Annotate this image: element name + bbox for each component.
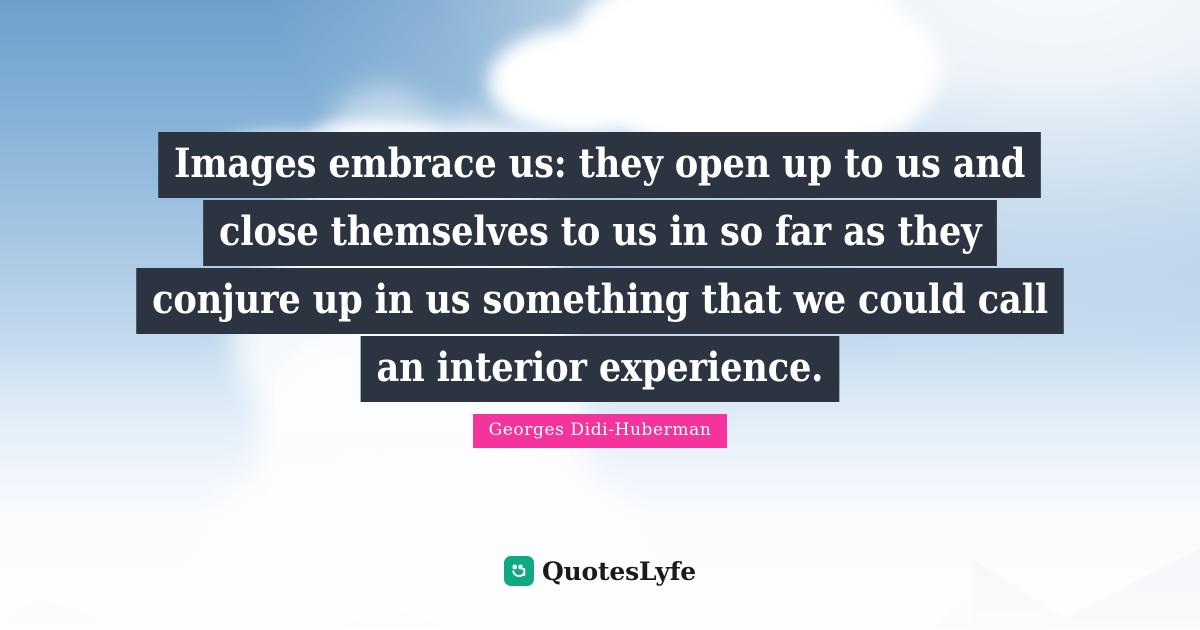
brand-logo[interactable]: QuotesLyfe [0,556,1200,586]
brand-name: QuotesLyfe [542,559,696,584]
quote-text: Images embrace us: they open up to us an… [0,132,1200,404]
quote-line: an interior experience. [361,336,839,402]
author-attribution: Georges Didi-Huberman [0,414,1200,448]
quote-line: conjure up in us something that we could… [136,268,1064,334]
quote-card: Images embrace us: they open up to us an… [0,0,1200,630]
card-content: Images embrace us: they open up to us an… [0,0,1200,630]
quote-line: close themselves to us in so far as they [203,200,997,266]
quote-marks-icon [504,556,534,586]
author-name: Georges Didi-Huberman [473,414,728,448]
quote-line: Images embrace us: they open up to us an… [159,132,1042,198]
